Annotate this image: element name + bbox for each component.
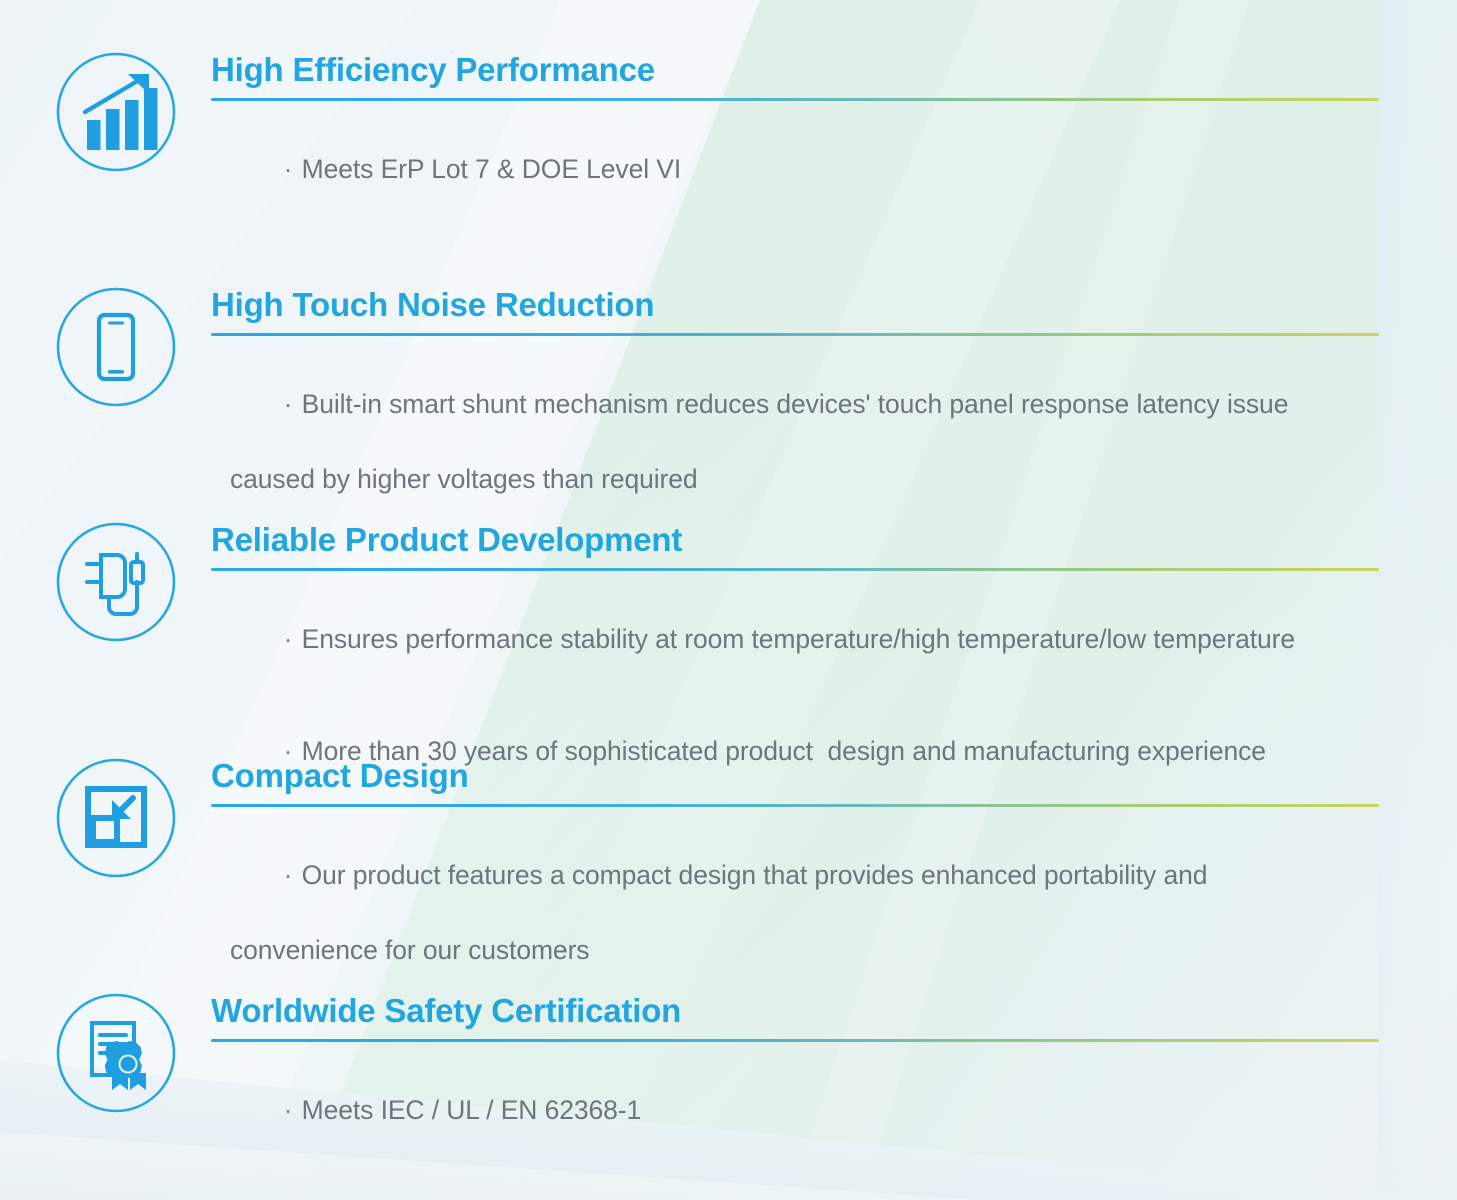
feature-divider: [211, 804, 1379, 807]
feature-divider: [211, 568, 1379, 571]
bullet-item: · Meets IEC / UL / EN 62368-1: [211, 1054, 1392, 1167]
bullet-marker: ·: [284, 860, 300, 890]
feature-divider: [211, 333, 1379, 336]
bullet-text: Ensures performance stability at room te…: [302, 624, 1295, 654]
feature-title: Reliable Product Development: [211, 522, 1392, 559]
feature-divider: [211, 1039, 1379, 1042]
bullet-text-continued: caused by higher voltages than required: [211, 461, 1392, 499]
feature-body: Worldwide Safety Certification · Meets I…: [211, 987, 1392, 1167]
feature-list: High Efficiency Performance · Meets ErP …: [0, 0, 1457, 1200]
bullet-marker: ·: [284, 389, 300, 419]
feature-title: High Touch Noise Reduction: [211, 287, 1392, 324]
bullet-text: Meets ErP Lot 7 & DOE Level VI: [302, 154, 681, 184]
bullet-item: · Ensures performance stability at room …: [211, 583, 1392, 696]
bar-chart-growth-icon: [52, 48, 180, 176]
feature-divider: [211, 98, 1379, 101]
bullet-item: · Meets ErP Lot 7 & DOE Level VI: [211, 113, 1392, 226]
feature-body: High Efficiency Performance · Meets ErP …: [211, 46, 1392, 226]
power-adapter-icon: [52, 518, 180, 646]
feature-title: Worldwide Safety Certification: [211, 993, 1392, 1030]
bullet-text: Meets IEC / UL / EN 62368-1: [302, 1095, 642, 1125]
compact-resize-icon: [52, 754, 180, 882]
certificate-award-icon: [52, 989, 180, 1117]
bullet-text: Built-in smart shunt mechanism reduces d…: [302, 389, 1289, 419]
bullet-marker: ·: [284, 154, 300, 184]
feature-title: Compact Design: [211, 758, 1392, 795]
bullet-text-continued: convenience for our customers: [211, 932, 1392, 970]
smartphone-icon: [52, 283, 180, 411]
feature-item-worldwide-safety-certification: Worldwide Safety Certification · Meets I…: [52, 987, 1392, 1167]
feature-title: High Efficiency Performance: [211, 52, 1392, 89]
bullet-text: Our product features a compact design th…: [302, 860, 1208, 890]
feature-item-high-efficiency-performance: High Efficiency Performance · Meets ErP …: [52, 46, 1392, 226]
feature-bullets: · Meets ErP Lot 7 & DOE Level VI: [211, 113, 1392, 226]
bullet-marker: ·: [284, 624, 300, 654]
bullet-marker: ·: [284, 1095, 300, 1125]
feature-bullets: · Meets IEC / UL / EN 62368-1: [211, 1054, 1392, 1167]
